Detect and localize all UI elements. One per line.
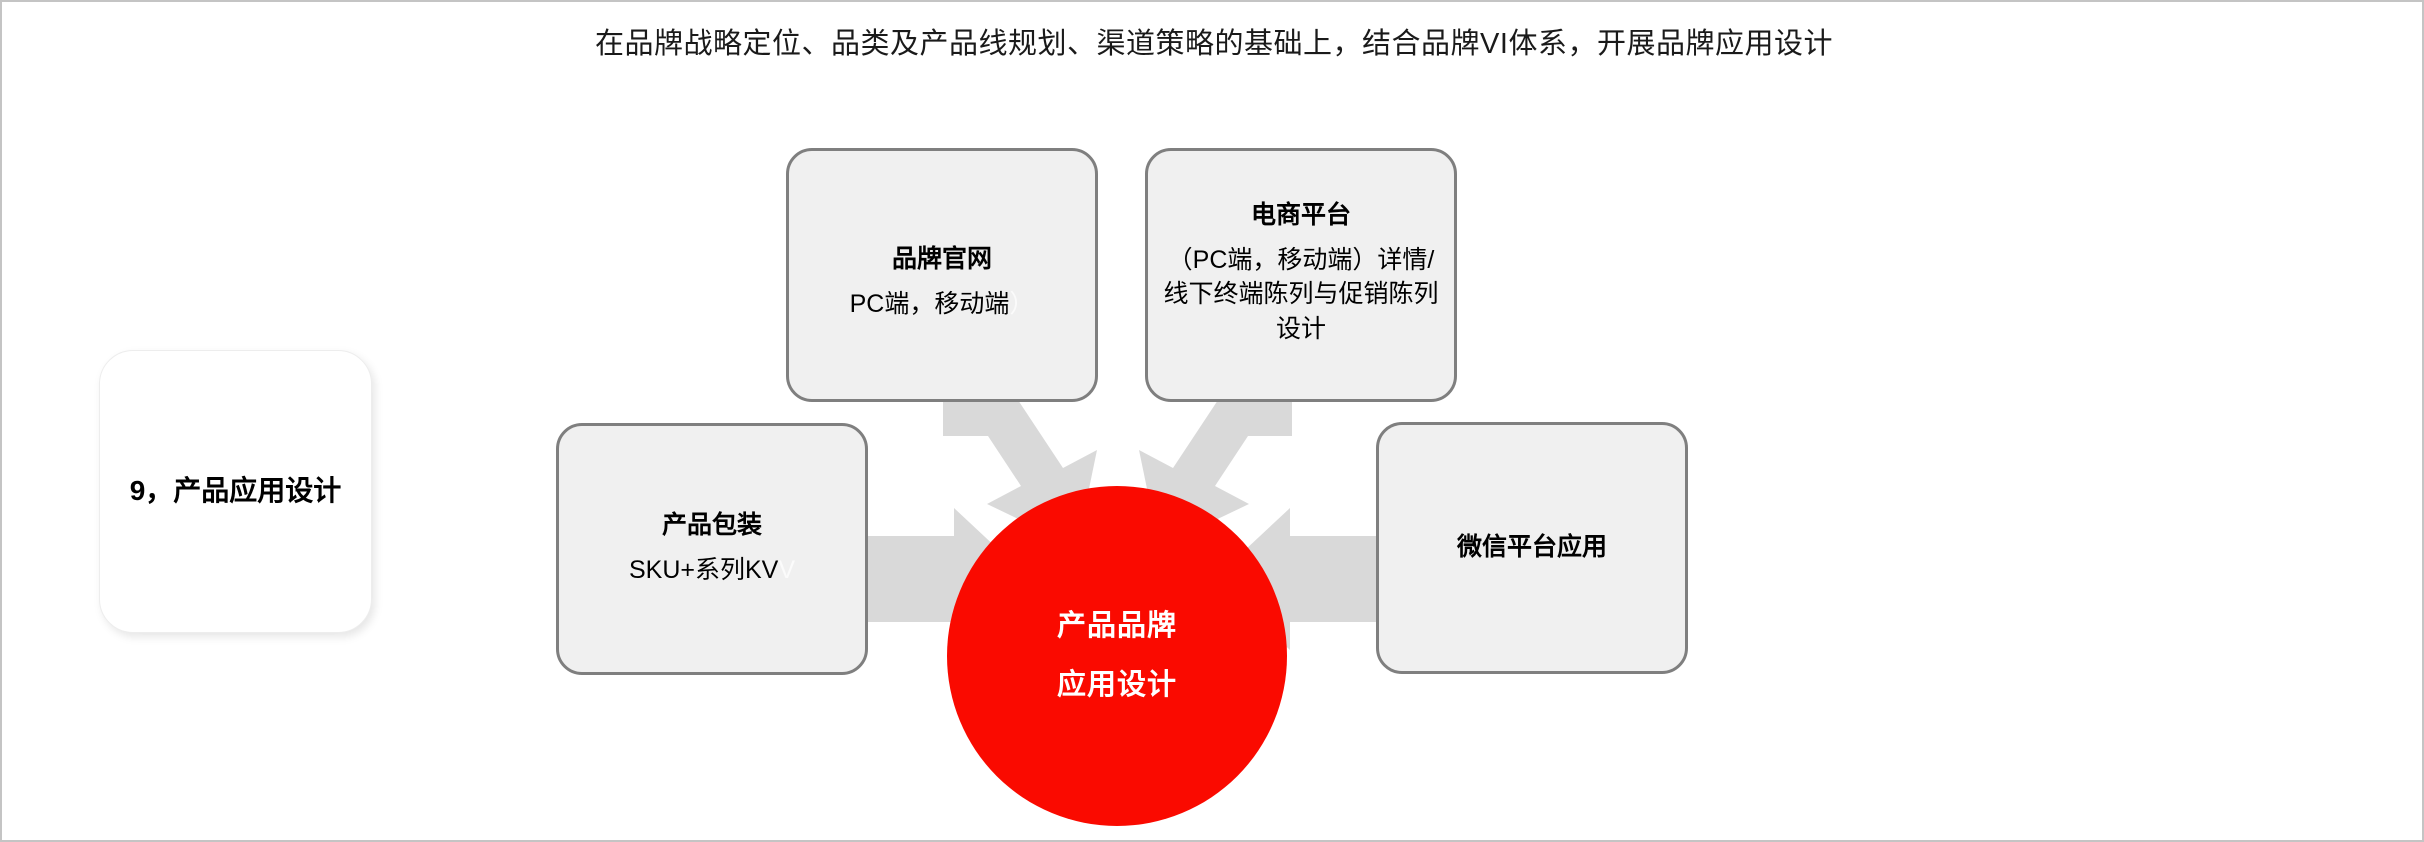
node-ecommerce-platform-subtitle: （PC端，移动端）详情/ 线下终端陈列与促销陈列 设计 [1160,243,1442,347]
node-wechat-platform-title: 微信平台应用 [1457,532,1607,563]
node-brand-website-title: 品牌官网 [892,244,992,275]
node-brand-website-subtitle: PC端，移动端） [850,287,1035,322]
subtitle-text: SKU+系列KV [629,556,778,584]
center-node-product-brand-application[interactable]: 产品品牌 应用设计 [947,486,1287,826]
node-wechat-platform[interactable]: 微信平台应用 [1376,422,1688,674]
node-ecommerce-platform-title: 电商平台 [1251,200,1351,231]
node-product-packaging-subtitle: SKU+系列KVV [629,553,795,588]
node-ecommerce-platform[interactable]: 电商平台 （PC端，移动端）详情/ 线下终端陈列与促销陈列 设计 [1145,148,1457,402]
left-stage-label: 9，产品应用设计 [128,473,343,510]
subtitle-overflow: ） [1009,290,1034,318]
left-stage-card[interactable]: 9，产品应用设计 [99,350,372,633]
node-product-packaging[interactable]: 产品包装 SKU+系列KVV [556,423,868,675]
slide-canvas: 在品牌战略定位、品类及产品线规划、渠道策略的基础上，结合品牌VI体系，开展品牌应… [0,0,2424,842]
center-node-line-1: 产品品牌 [1057,612,1177,641]
node-product-packaging-title: 产品包装 [662,510,762,541]
subtitle-text: PC端，移动端 [850,290,1010,318]
subtitle-overflow: V [778,556,795,584]
center-node-line-2: 应用设计 [1057,671,1177,700]
node-brand-website[interactable]: 品牌官网 PC端，移动端） [786,148,1098,402]
page-title: 在品牌战略定位、品类及产品线规划、渠道策略的基础上，结合品牌VI体系，开展品牌应… [2,20,2424,62]
